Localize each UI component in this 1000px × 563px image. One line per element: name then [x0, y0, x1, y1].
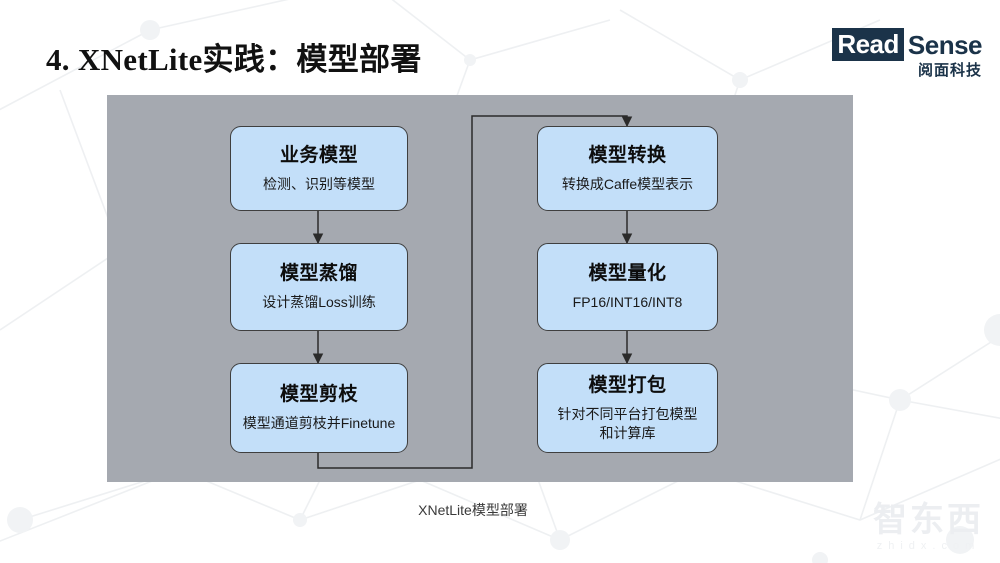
flow-box-right-2[interactable]: 模型量化 FP16/INT16/INT8 [537, 243, 718, 331]
flow-box-title: 模型打包 [588, 374, 666, 398]
flow-box-title: 模型转换 [588, 144, 666, 168]
brand-logo-wordmark: Read Sense [832, 28, 982, 61]
flow-box-subtitle: 检测、识别等模型 [255, 175, 383, 194]
flow-box-left-3[interactable]: 模型剪枝 模型通道剪枝并Finetune [230, 363, 408, 453]
flow-box-subtitle: FP16/INT16/INT8 [565, 293, 691, 312]
flow-box-title: 模型蒸馏 [280, 262, 358, 286]
brand-logo-sense: Sense [904, 30, 982, 60]
zhidx-watermark-en: zhidx.com [873, 539, 984, 553]
diagram-caption: XNetLite模型部署 [0, 500, 1000, 520]
page-title: 4. XNetLite实践：模型部署 [46, 34, 422, 79]
flow-box-subtitle: 转换成Caffe模型表示 [554, 175, 701, 194]
flow-connectors [107, 95, 853, 482]
flow-box-right-3[interactable]: 模型打包 针对不同平台打包模型和计算库 [537, 363, 718, 453]
flow-box-right-1[interactable]: 模型转换 转换成Caffe模型表示 [537, 126, 718, 211]
flow-box-subtitle: 模型通道剪枝并Finetune [235, 414, 403, 433]
flow-box-left-1[interactable]: 业务模型 检测、识别等模型 [230, 126, 408, 211]
brand-logo-chinese: 阅面科技 [832, 62, 982, 80]
flow-box-subtitle: 设计蒸馏Loss训练 [254, 293, 384, 312]
flow-box-title: 业务模型 [280, 144, 358, 168]
diagram-caption-text: XNetLite模型部署 [418, 502, 528, 518]
brand-logo-read: Read [832, 28, 904, 61]
flow-box-left-2[interactable]: 模型蒸馏 设计蒸馏Loss训练 [230, 243, 408, 331]
flow-box-subtitle: 针对不同平台打包模型和计算库 [545, 405, 711, 443]
flow-box-title: 模型量化 [588, 262, 666, 286]
diagram-panel: 业务模型 检测、识别等模型 模型蒸馏 设计蒸馏Loss训练 模型剪枝 模型通道剪… [107, 95, 853, 482]
brand-logo: Read Sense 阅面科技 [832, 28, 982, 80]
flow-box-title: 模型剪枝 [280, 383, 358, 407]
